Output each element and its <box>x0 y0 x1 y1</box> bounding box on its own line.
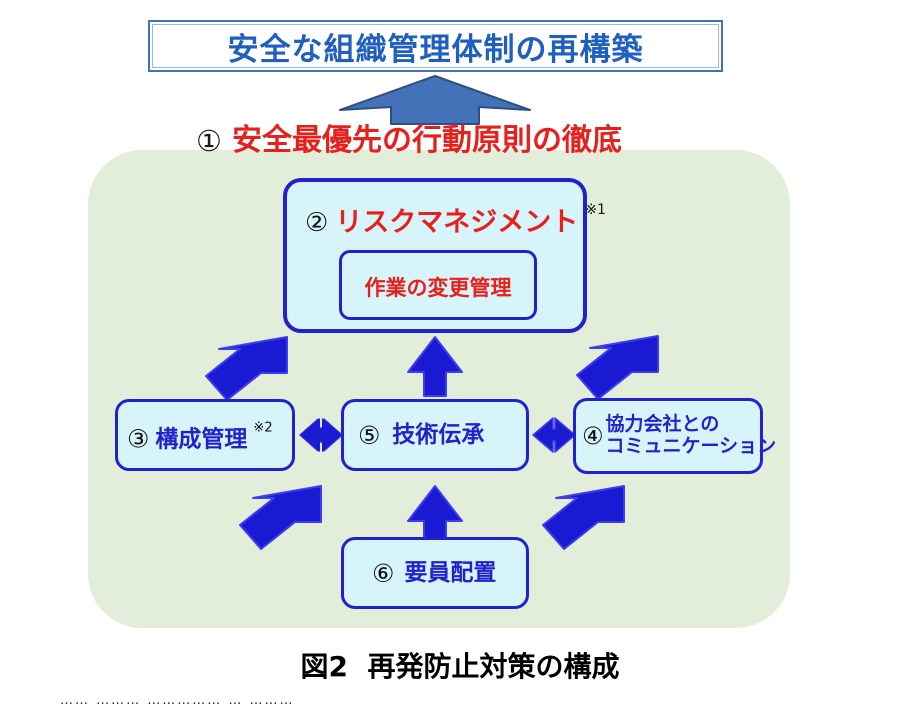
node-configuration-management[interactable]: ③ 構成管理 ※2 <box>115 399 295 471</box>
node-skill-transfer-content: ⑤ 技術伝承 <box>358 422 484 448</box>
node-label: リスクマネジメント <box>335 207 578 238</box>
node-label: 作業の変更管理 <box>365 276 512 300</box>
node-work-change-management[interactable]: 作業の変更管理 <box>339 250 537 320</box>
node-partner-communication-content: ④ 協力会社との コミュニケーション <box>582 414 776 458</box>
headline-item-1: ① 安全最優先の行動原則の徹底 <box>196 126 622 156</box>
clipped-footer-text: …… ……… …………… … ……… <box>0 697 920 707</box>
node-staff-assignment[interactable]: ⑥ 要員配置 <box>341 537 529 609</box>
node-number: ④ <box>582 424 604 448</box>
node-skill-transfer[interactable]: ⑤ 技術伝承 <box>341 399 529 471</box>
node-number: ⑤ <box>358 423 380 448</box>
node-label: 協力会社との コミュニケーション <box>606 414 777 458</box>
node-label: 構成管理 <box>155 426 247 452</box>
diagram-canvas: 安全な組織管理体制の再構築 ① 安全最優先の行動原則の徹底 <box>0 0 920 707</box>
node-label-line-2: コミュニケーション <box>606 435 777 457</box>
node-footnote-marker: ※1 <box>585 202 606 218</box>
node-label: 技術伝承 <box>392 422 484 448</box>
node-footnote-marker: ※2 <box>253 420 272 435</box>
node-partner-communication[interactable]: ④ 協力会社との コミュニケーション <box>573 398 763 474</box>
headline-label: 安全最優先の行動原則の徹底 <box>232 126 622 156</box>
upward-arrow-icon <box>337 74 533 126</box>
headline-number: ① <box>196 127 222 156</box>
node-number: ③ <box>127 426 149 451</box>
figure-caption: 図2 再発防止対策の構成 <box>0 645 920 685</box>
node-risk-management[interactable]: ② リスクマネジメント ※1 作業の変更管理 <box>283 178 587 333</box>
title-text: 安全な組織管理体制の再構築 <box>228 24 644 69</box>
node-staff-assignment-content: ⑥ 要員配置 <box>372 560 496 586</box>
node-label: 要員配置 <box>404 560 496 586</box>
footer-text: …… ……… …………… … ……… <box>60 697 295 707</box>
title-banner: 安全な組織管理体制の再構築 <box>148 20 723 72</box>
node-risk-management-header: ② リスクマネジメント ※1 <box>305 200 606 238</box>
node-label-line-1: 協力会社との <box>606 413 720 435</box>
node-number: ⑥ <box>372 561 394 586</box>
node-number: ② <box>305 210 328 236</box>
node-configuration-management-content: ③ 構成管理 ※2 <box>127 417 273 452</box>
